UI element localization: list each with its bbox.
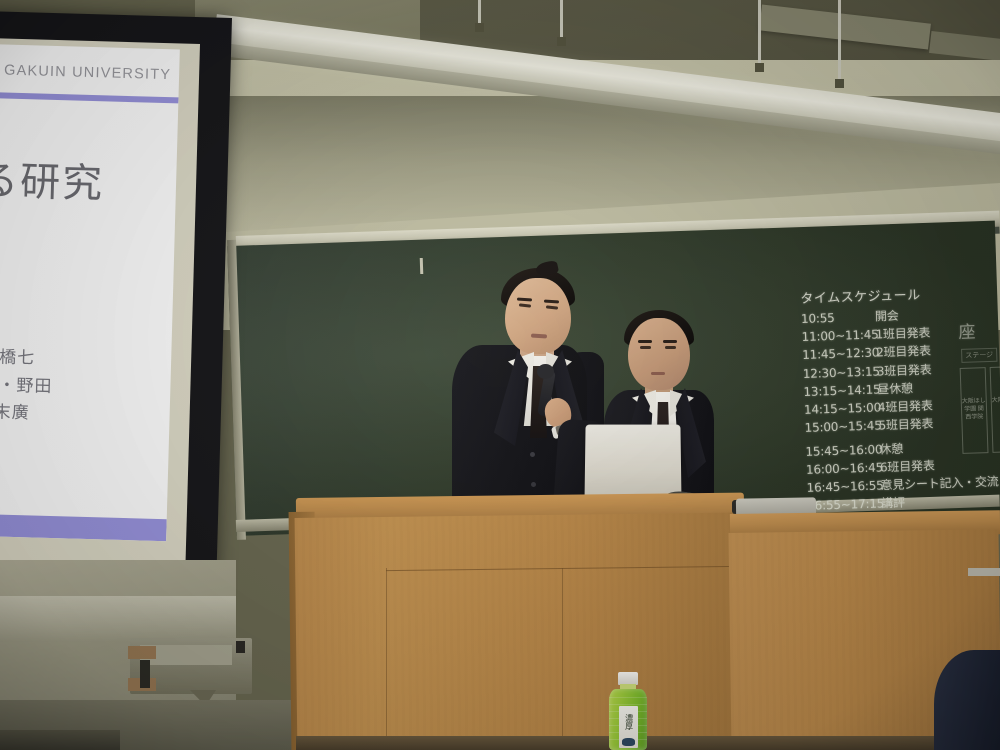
green-tea-bottle[interactable]: 濃厚 xyxy=(608,672,648,750)
slide-authors: 松井元暉・大橋七 森脇三知加・野田 板根佳奈子・末廣 xyxy=(0,342,171,432)
wall-light-band xyxy=(0,596,236,642)
chalkboard-hook xyxy=(420,258,424,274)
slide-author-line: 松井元暉・大橋七 xyxy=(0,342,171,377)
second-eyebrow-left xyxy=(638,340,652,343)
desk-object xyxy=(968,568,1000,576)
schedule-item: 休憩 xyxy=(879,439,903,458)
speaker-face xyxy=(505,278,571,354)
bottle-label: 濃厚 xyxy=(619,706,638,748)
schedule-item: 4班目発表 xyxy=(878,397,933,417)
presentation-slide: WANSEI GAKUIN UNIVERSITY 関する研究 松井元暉・大橋七 … xyxy=(0,42,180,541)
bottle-label-text: 濃厚 xyxy=(624,710,633,734)
seating-box: 大阪ほし xyxy=(990,366,1000,453)
slide-accent-rule xyxy=(0,90,179,103)
seating-box: 大阪ほし学園 関西学院 xyxy=(960,367,989,454)
podium-panel-seam xyxy=(386,568,387,750)
podium-panel-seam xyxy=(562,568,563,750)
schedule-item: 5班目発表 xyxy=(878,415,933,435)
second-face xyxy=(628,318,690,390)
second-eye-right xyxy=(665,346,676,349)
second-eye-left xyxy=(640,346,651,349)
teapot-icon xyxy=(622,738,635,746)
seating-diagram-title: 座 xyxy=(958,316,1000,343)
bracket-fixture xyxy=(236,641,245,653)
second-mouth xyxy=(651,372,665,375)
microphone-head xyxy=(537,364,554,379)
slide-university-name: WANSEI GAKUIN UNIVERSITY xyxy=(0,60,179,83)
schedule-item: 6班目発表 xyxy=(880,457,935,477)
seating-stage-label: ステージ xyxy=(961,348,997,363)
slide-title: 関する研究 xyxy=(0,146,175,212)
speaker-jacket-button xyxy=(530,452,535,457)
light-suspension-rod xyxy=(838,0,841,88)
lecture-hall-photo: タイムスケジュール 10:55開会 11:00~11:451班目発表 11:45… xyxy=(0,0,1000,750)
projection-screen: WANSEI GAKUIN UNIVERSITY 関する研究 松井元暉・大橋七 … xyxy=(0,18,232,638)
screen-surface: WANSEI GAKUIN UNIVERSITY 関する研究 松井元暉・大橋七 … xyxy=(0,37,200,604)
schedule-item: 2班目発表 xyxy=(876,342,931,362)
podium-front-panel xyxy=(295,513,746,750)
schedule-item: 3班目発表 xyxy=(877,360,932,380)
light-suspension-rod xyxy=(478,0,481,32)
second-eyebrow-right xyxy=(663,340,677,343)
schedule-item: 昼休憩 xyxy=(877,379,913,398)
bracket-fixture xyxy=(140,660,150,688)
light-suspension-rod xyxy=(560,0,563,46)
chalk-seating-diagram: 座 ステージ 大阪ほし学園 関西学院 大阪ほし xyxy=(958,316,1000,454)
schedule-item: 開会 xyxy=(875,307,899,326)
foreground-surface xyxy=(0,730,120,750)
slide-accent-rule-bottom xyxy=(0,512,167,541)
schedule-item: 1班目発表 xyxy=(875,324,930,344)
light-suspension-rod xyxy=(758,0,761,72)
schedule-item: 講評 xyxy=(881,494,905,513)
schedule-time: 15:00~15:45 xyxy=(804,417,879,438)
bracket-tape xyxy=(128,646,156,659)
speaker-jacket-button xyxy=(531,482,536,487)
